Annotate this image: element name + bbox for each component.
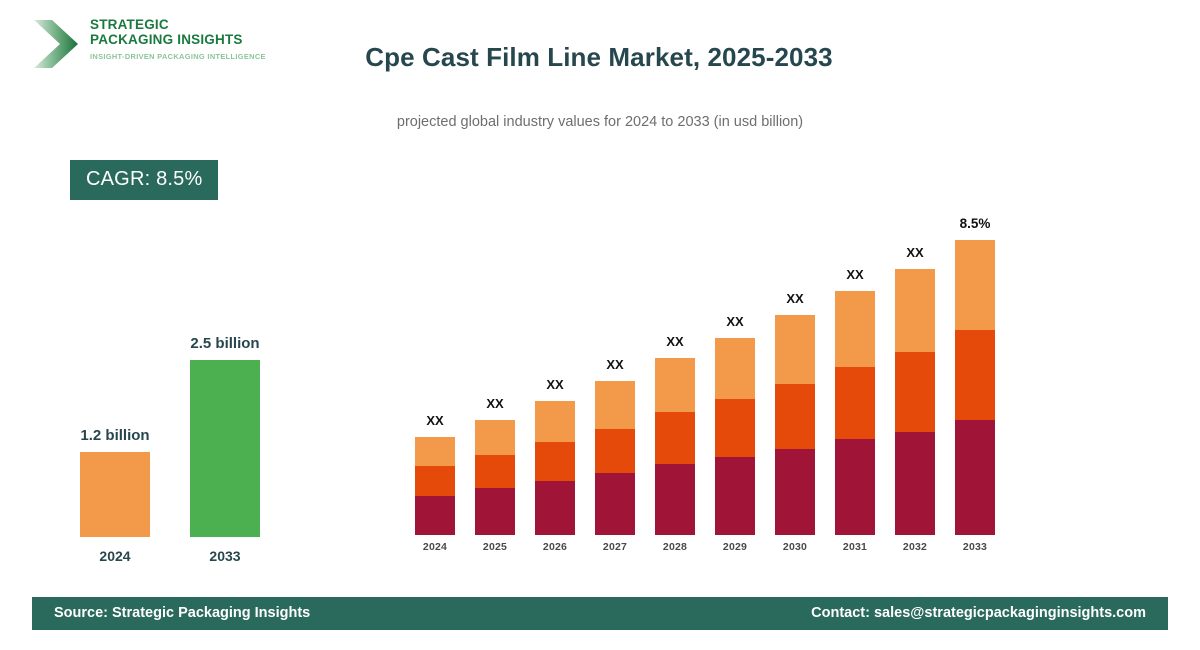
forecast-segment-segment-top-2027 bbox=[595, 381, 635, 429]
forecast-column-2026: XX2026 bbox=[535, 195, 575, 560]
forecast-segment-segment-bottom-2026 bbox=[535, 481, 575, 535]
cagr-badge: CAGR: 8.5% bbox=[70, 160, 218, 200]
forecast-segment-segment-top-2028 bbox=[655, 358, 695, 412]
forecast-column-2033: 8.5%2033 bbox=[955, 195, 995, 560]
forecast-segment-segment-middle-2025 bbox=[475, 455, 515, 488]
comparison-year-label-2033: 2033 bbox=[180, 548, 270, 564]
comparison-value-label-2033: 2.5 billion bbox=[150, 335, 300, 352]
forecast-value-label-2028: XX bbox=[655, 334, 695, 349]
comparison-bar-chart: 1.2 billion20242.5 billion2033 bbox=[40, 300, 320, 570]
forecast-segment-segment-bottom-2028 bbox=[655, 464, 695, 535]
forecast-segment-segment-middle-2033 bbox=[955, 330, 995, 420]
forecast-stack-2029 bbox=[715, 338, 755, 535]
footer-contact-text: Contact: sales@strategicpackaginginsight… bbox=[811, 597, 1146, 630]
forecast-segment-segment-bottom-2027 bbox=[595, 473, 635, 535]
forecast-year-label-2025: 2025 bbox=[475, 541, 515, 553]
forecast-segment-segment-top-2030 bbox=[775, 315, 815, 384]
comparison-value-label-2024: 1.2 billion bbox=[40, 427, 190, 444]
forecast-segment-segment-middle-2028 bbox=[655, 412, 695, 464]
forecast-segment-segment-middle-2032 bbox=[895, 352, 935, 432]
forecast-segment-segment-bottom-2025 bbox=[475, 488, 515, 535]
forecast-value-label-2026: XX bbox=[535, 377, 575, 392]
forecast-year-label-2028: 2028 bbox=[655, 541, 695, 553]
forecast-value-label-2030: XX bbox=[775, 291, 815, 306]
forecast-column-2031: XX2031 bbox=[835, 195, 875, 560]
forecast-stacked-bar-chart: XX2024XX2025XX2026XX2027XX2028XX2029XX20… bbox=[400, 195, 1020, 560]
footer-source-text: Source: Strategic Packaging Insights bbox=[54, 597, 310, 630]
forecast-stack-2028 bbox=[655, 358, 695, 535]
forecast-segment-segment-top-2026 bbox=[535, 401, 575, 442]
forecast-segment-segment-top-2031 bbox=[835, 291, 875, 367]
forecast-year-label-2030: 2030 bbox=[775, 541, 815, 553]
forecast-segment-segment-middle-2026 bbox=[535, 442, 575, 481]
forecast-year-label-2024: 2024 bbox=[415, 541, 455, 553]
forecast-segment-segment-middle-2031 bbox=[835, 367, 875, 439]
forecast-segment-segment-top-2024 bbox=[415, 437, 455, 466]
page-title: Cpe Cast Film Line Market, 2025-2033 bbox=[0, 42, 1200, 73]
page-subtitle: projected global industry values for 202… bbox=[0, 114, 1200, 130]
forecast-segment-segment-bottom-2032 bbox=[895, 432, 935, 535]
forecast-segment-segment-middle-2024 bbox=[415, 466, 455, 496]
forecast-segment-segment-middle-2029 bbox=[715, 399, 755, 457]
forecast-stack-2032 bbox=[895, 269, 935, 535]
page-title-text: Cpe Cast Film Line Market, 2025-2033 bbox=[365, 42, 832, 72]
forecast-year-label-2026: 2026 bbox=[535, 541, 575, 553]
comparison-bar-2033 bbox=[190, 360, 260, 537]
forecast-segment-segment-bottom-2029 bbox=[715, 457, 755, 535]
forecast-segment-segment-top-2029 bbox=[715, 338, 755, 399]
forecast-value-label-2024: XX bbox=[415, 413, 455, 428]
forecast-segment-segment-middle-2030 bbox=[775, 384, 815, 449]
comparison-bar-2024 bbox=[80, 452, 150, 537]
forecast-column-2024: XX2024 bbox=[415, 195, 455, 560]
forecast-stack-2033 bbox=[955, 240, 995, 535]
comparison-column-2033: 2.5 billion2033 bbox=[180, 300, 270, 570]
forecast-segment-segment-bottom-2031 bbox=[835, 439, 875, 535]
forecast-value-label-2025: XX bbox=[475, 396, 515, 411]
forecast-year-label-2031: 2031 bbox=[835, 541, 875, 553]
forecast-stack-2031 bbox=[835, 291, 875, 535]
forecast-year-label-2033: 2033 bbox=[955, 541, 995, 553]
forecast-segment-segment-top-2025 bbox=[475, 420, 515, 455]
forecast-stack-2025 bbox=[475, 420, 515, 535]
forecast-column-2029: XX2029 bbox=[715, 195, 755, 560]
forecast-segment-segment-top-2032 bbox=[895, 269, 935, 352]
forecast-year-label-2032: 2032 bbox=[895, 541, 935, 553]
forecast-value-label-2033: 8.5% bbox=[955, 216, 995, 231]
forecast-segment-segment-bottom-2030 bbox=[775, 449, 815, 535]
forecast-segment-segment-middle-2027 bbox=[595, 429, 635, 473]
forecast-segment-segment-bottom-2033 bbox=[955, 420, 995, 535]
forecast-column-2030: XX2030 bbox=[775, 195, 815, 560]
forecast-value-label-2027: XX bbox=[595, 357, 635, 372]
forecast-column-2027: XX2027 bbox=[595, 195, 635, 560]
forecast-segment-segment-top-2033 bbox=[955, 240, 995, 330]
forecast-stack-2026 bbox=[535, 401, 575, 535]
footer-bar: Source: Strategic Packaging Insights Con… bbox=[32, 597, 1168, 630]
forecast-column-2032: XX2032 bbox=[895, 195, 935, 560]
forecast-value-label-2029: XX bbox=[715, 314, 755, 329]
forecast-year-label-2027: 2027 bbox=[595, 541, 635, 553]
forecast-year-label-2029: 2029 bbox=[715, 541, 755, 553]
forecast-stack-2024 bbox=[415, 437, 455, 535]
forecast-stack-2030 bbox=[775, 315, 815, 535]
forecast-value-label-2032: XX bbox=[895, 245, 935, 260]
forecast-column-2025: XX2025 bbox=[475, 195, 515, 560]
forecast-stack-2027 bbox=[595, 381, 635, 535]
comparison-year-label-2024: 2024 bbox=[70, 548, 160, 564]
forecast-segment-segment-bottom-2024 bbox=[415, 496, 455, 535]
forecast-column-2028: XX2028 bbox=[655, 195, 695, 560]
comparison-column-2024: 1.2 billion2024 bbox=[70, 300, 160, 570]
forecast-value-label-2031: XX bbox=[835, 267, 875, 282]
brand-name-line-1: STRATEGIC bbox=[90, 18, 266, 33]
